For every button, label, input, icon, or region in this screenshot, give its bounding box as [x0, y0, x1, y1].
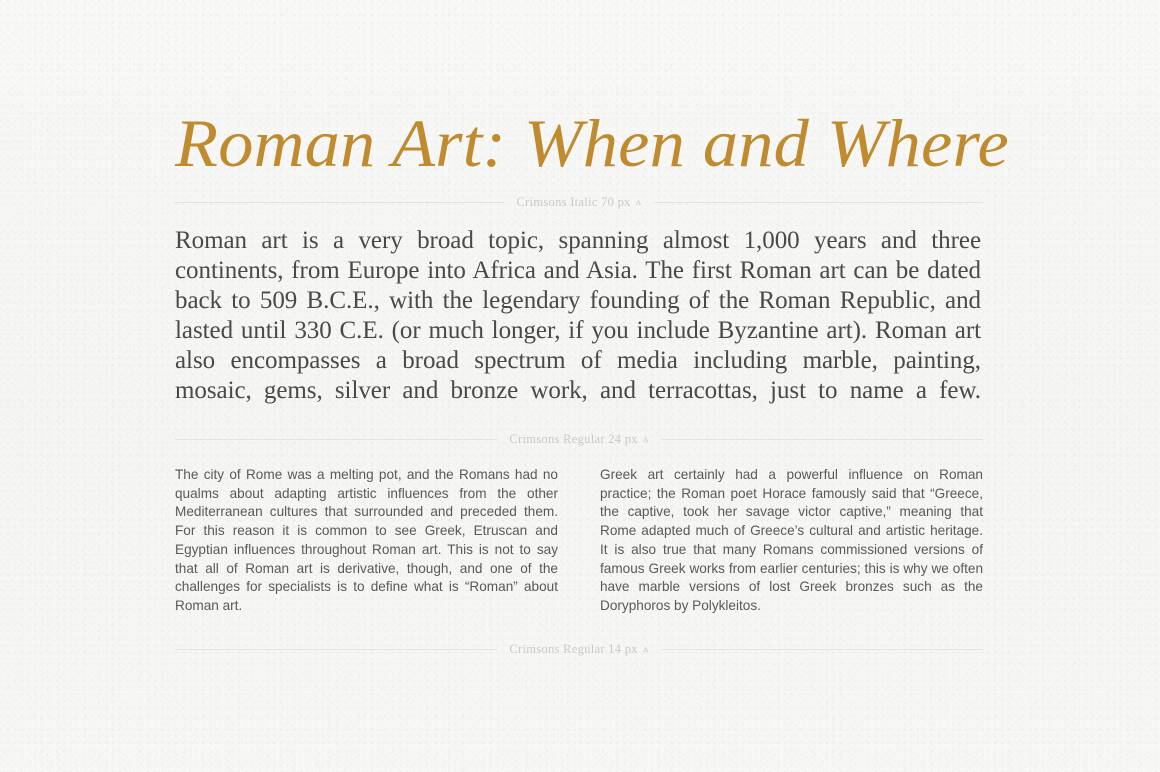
page-title: Roman Art: When and Where	[175, 104, 1011, 182]
divider-rule-left	[175, 202, 504, 203]
caret-up-icon: ʌ	[643, 431, 649, 447]
divider-label-title-spec: Crimsons Italic 70 pxʌ	[504, 194, 653, 210]
divider-label-columns-spec-text: Crimsons Regular 14 px	[509, 642, 637, 656]
column-paragraph-left: The city of Rome was a melting pot, and …	[175, 466, 558, 616]
columns-block: The city of Rome was a melting pot, and …	[175, 466, 983, 616]
caret-up-icon: ʌ	[636, 194, 642, 210]
body-block: Roman art is a very broad topic, spannin…	[175, 226, 981, 436]
divider-label-body-spec-text: Crimsons Regular 24 px	[509, 432, 637, 446]
text-column-left: The city of Rome was a melting pot, and …	[175, 466, 558, 616]
title-block: Roman Art: When and Where	[175, 104, 983, 182]
divider-rule-right	[661, 649, 983, 650]
divider-label-title-spec-text: Crimsons Italic 70 px	[516, 195, 630, 209]
divider-rule-right	[654, 202, 983, 203]
divider-rule-right	[661, 439, 983, 440]
divider-label-body-spec: Crimsons Regular 24 pxʌ	[497, 431, 660, 447]
body-paragraph: Roman art is a very broad topic, spannin…	[175, 226, 981, 436]
divider-rule-left	[175, 439, 497, 440]
text-column-right: Greek art certainly had a powerful influ…	[600, 466, 983, 616]
divider-label-columns-spec: Crimsons Regular 14 pxʌ	[497, 641, 660, 657]
divider-columns-spec: Crimsons Regular 14 pxʌ	[175, 641, 983, 657]
divider-title-spec: Crimsons Italic 70 pxʌ	[175, 194, 983, 210]
content-column: Roman Art: When and Where Crimsons Itali…	[175, 0, 983, 772]
specimen-page: Roman Art: When and Where Crimsons Itali…	[0, 0, 1160, 772]
column-paragraph-right: Greek art certainly had a powerful influ…	[600, 466, 983, 616]
divider-body-spec: Crimsons Regular 24 pxʌ	[175, 431, 983, 447]
divider-rule-left	[175, 649, 497, 650]
caret-up-icon: ʌ	[643, 641, 649, 657]
